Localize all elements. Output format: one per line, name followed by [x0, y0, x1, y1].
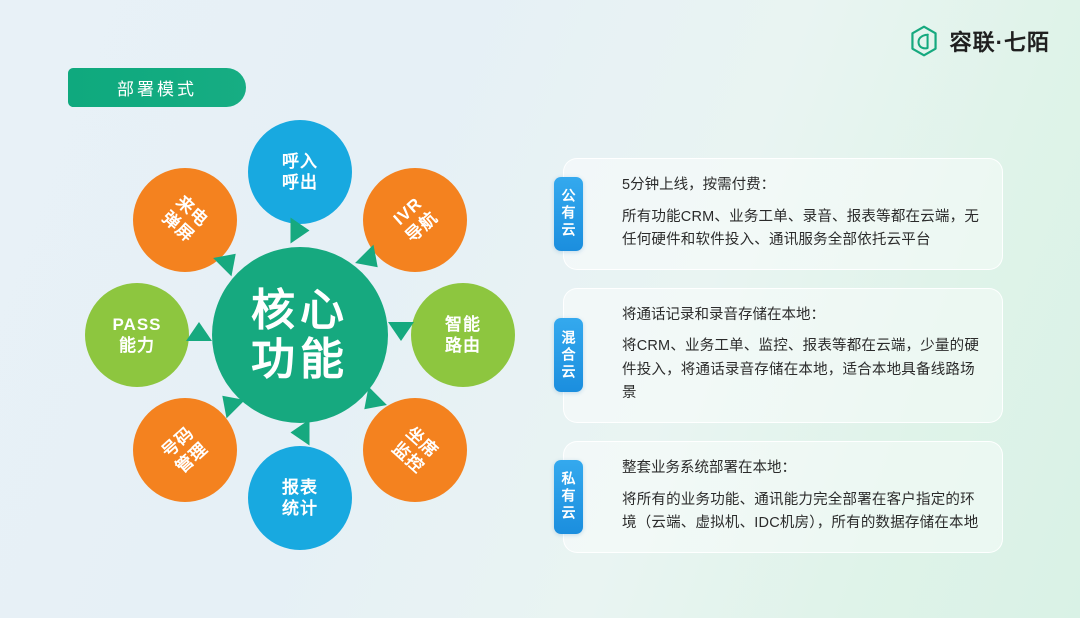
wheel-arrow-inbound-outbound — [291, 218, 310, 244]
wheel-node-label-wrap: 智能路由 — [445, 314, 481, 357]
deployment-card-heading: 5分钟上线，按需付费： — [622, 175, 980, 197]
wheel-arrow-report-statistics — [291, 420, 310, 446]
wheel-node-pass-capability[interactable]: PASS能力 — [85, 283, 189, 387]
section-tab-label: 部署模式 — [117, 75, 197, 100]
wheel-node-label-line1: 报表 — [282, 477, 318, 498]
wheel-node-label-wrap: 坐席监控 — [388, 422, 443, 478]
wheel-arrow-smart-routing — [388, 322, 414, 341]
section-tab-deployment-mode[interactable]: 部署模式 — [68, 68, 246, 107]
wheel-node-smart-routing[interactable]: 智能路由 — [411, 283, 515, 387]
wheel-node-label-line1: 呼入 — [282, 151, 318, 172]
brand-name: 容联·七陌 — [950, 25, 1050, 57]
deployment-card-badge: 公有云 — [554, 177, 583, 251]
wheel-node-label-line1: PASS — [112, 314, 161, 335]
wheel-node-label-line2: 统计 — [282, 498, 318, 519]
hub-label-line2: 功能 — [251, 335, 349, 384]
brand-logo: 容联·七陌 — [907, 24, 1050, 58]
wheel-node-label-wrap: 号码管理 — [157, 422, 212, 478]
wheel-node-report-statistics[interactable]: 报表统计 — [248, 446, 352, 550]
deployment-card-badge-label: 公有云 — [562, 188, 576, 239]
hexagon-leaf-logo-icon — [907, 24, 941, 58]
deployment-card-badge: 混合云 — [554, 318, 583, 392]
wheel-arrow-pass-capability — [186, 322, 212, 341]
wheel-node-label-line2: 呼出 — [282, 172, 318, 193]
deployment-mode-cards: 公有云5分钟上线，按需付费：所有功能CRM、业务工单、录音、报表等都在云端，无任… — [563, 158, 1003, 553]
wheel-node-label-line2: 路由 — [445, 335, 481, 356]
wheel-node-label-line1: 智能 — [445, 314, 481, 335]
wheel-node-label-wrap: 呼入呼出 — [282, 151, 318, 194]
deployment-card-heading: 整套业务系统部署在本地： — [622, 458, 980, 480]
wheel-node-label-wrap: IVR导航 — [388, 192, 443, 248]
deployment-card-body: 将CRM、业务工单、监控、报表等都在云端，少量的硬件投入，将通话录音存储在本地，… — [622, 335, 980, 405]
deployment-card-body: 所有功能CRM、业务工单、录音、报表等都在云端，无任何硬件和软件投入、通讯服务全… — [622, 206, 980, 253]
deployment-card-body: 将所有的业务功能、通讯能力完全部署在客户指定的环境（云端、虚拟机、IDC机房），… — [622, 489, 980, 536]
deployment-card[interactable]: 混合云将通话记录和录音存储在本地：将CRM、业务工单、监控、报表等都在云端，少量… — [563, 288, 1003, 423]
wheel-node-label-wrap: 报表统计 — [282, 477, 318, 520]
wheel-node-label-line2: 能力 — [119, 335, 155, 356]
hub-label-line1: 核心 — [251, 286, 349, 335]
deployment-card-badge: 私有云 — [554, 460, 583, 534]
deployment-card-badge-label: 私有云 — [562, 471, 576, 522]
deployment-card-heading: 将通话记录和录音存储在本地： — [622, 305, 980, 327]
core-functions-wheel-diagram: 呼入呼出IVR导航智能路由坐席监控报表统计号码管理PASS能力来电弹屏 核心 功… — [80, 120, 520, 550]
wheel-node-inbound-outbound[interactable]: 呼入呼出 — [248, 120, 352, 224]
wheel-node-label-wrap: PASS能力 — [112, 314, 161, 357]
wheel-node-agent-monitoring[interactable]: 坐席监控 — [363, 398, 467, 502]
wheel-node-label-wrap: 来电弹屏 — [157, 192, 212, 248]
deployment-card[interactable]: 私有云整套业务系统部署在本地：将所有的业务功能、通讯能力完全部署在客户指定的环境… — [563, 441, 1003, 553]
deployment-card[interactable]: 公有云5分钟上线，按需付费：所有功能CRM、业务工单、录音、报表等都在云端，无任… — [563, 158, 1003, 270]
deployment-card-badge-label: 混合云 — [562, 330, 576, 381]
